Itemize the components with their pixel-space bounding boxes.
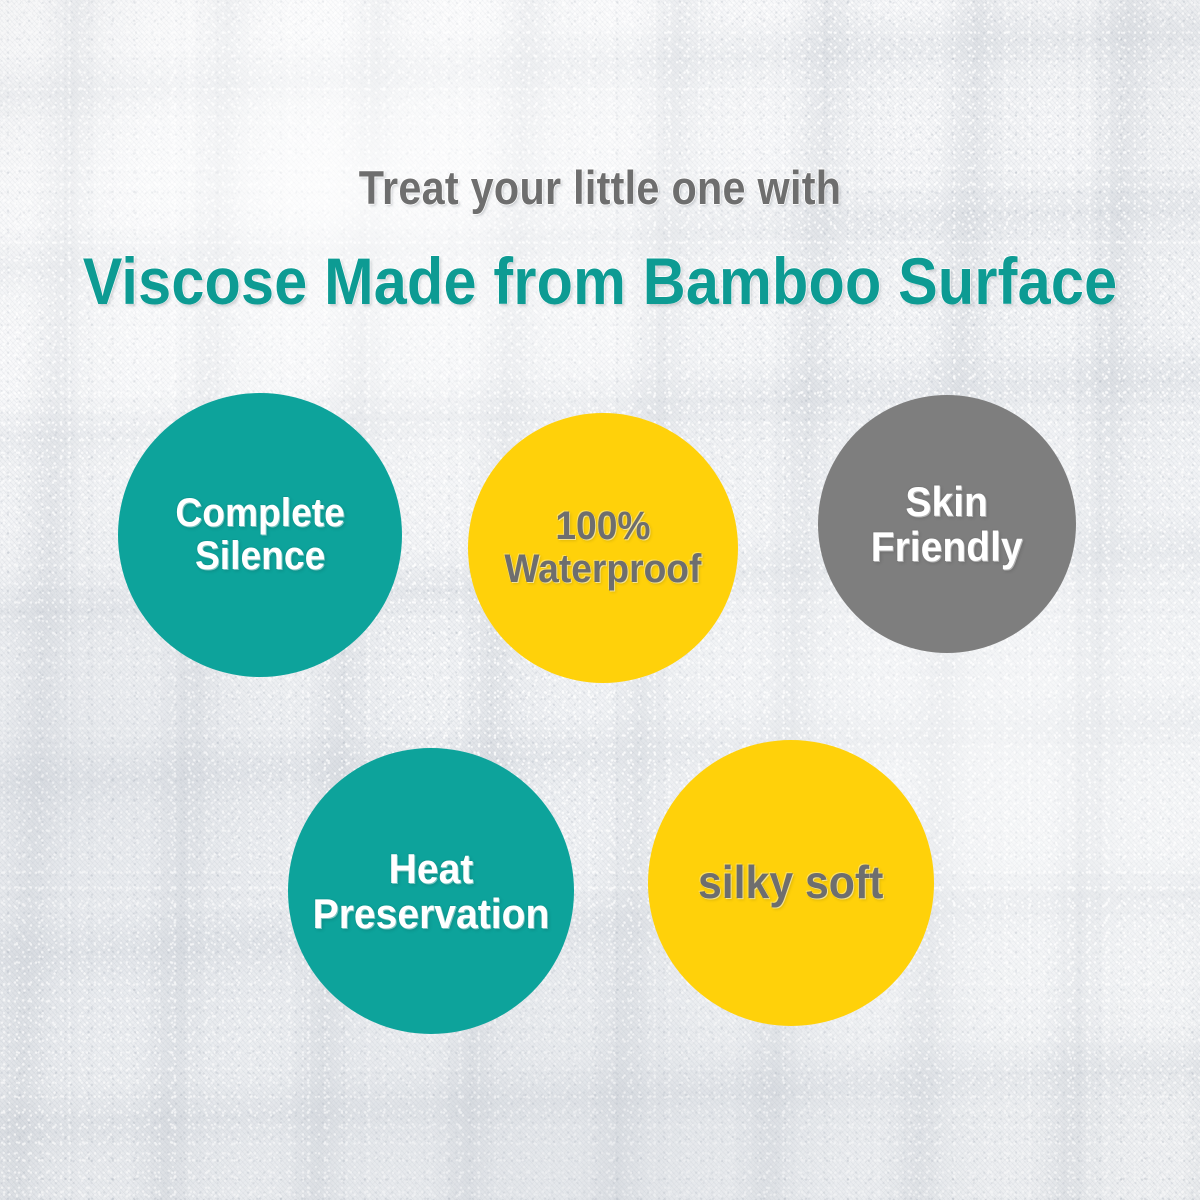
headline-text: Viscose Made from Bamboo Surface	[60, 243, 1140, 319]
feature-bubble-skin-friendly: Skin Friendly	[818, 395, 1076, 653]
feature-bubble-silky-soft: silky soft	[648, 740, 934, 1026]
feature-bubble-waterproof: 100% Waterproof	[468, 413, 738, 683]
feature-label-heat-preservation: Heat Preservation	[298, 846, 564, 937]
feature-label-silky-soft: silky soft	[698, 858, 883, 908]
feature-bubble-heat-preservation: Heat Preservation	[288, 748, 574, 1034]
feature-label-waterproof: 100% Waterproof	[504, 505, 701, 591]
kicker-text: Treat your little one with	[72, 160, 1128, 215]
feature-label-skin-friendly: Skin Friendly	[871, 479, 1023, 570]
infographic-canvas: Treat your little one with Viscose Made …	[0, 0, 1200, 1200]
feature-bubble-complete-silence: Complete Silence	[118, 393, 402, 677]
feature-label-complete-silence: Complete Silence	[175, 492, 344, 578]
